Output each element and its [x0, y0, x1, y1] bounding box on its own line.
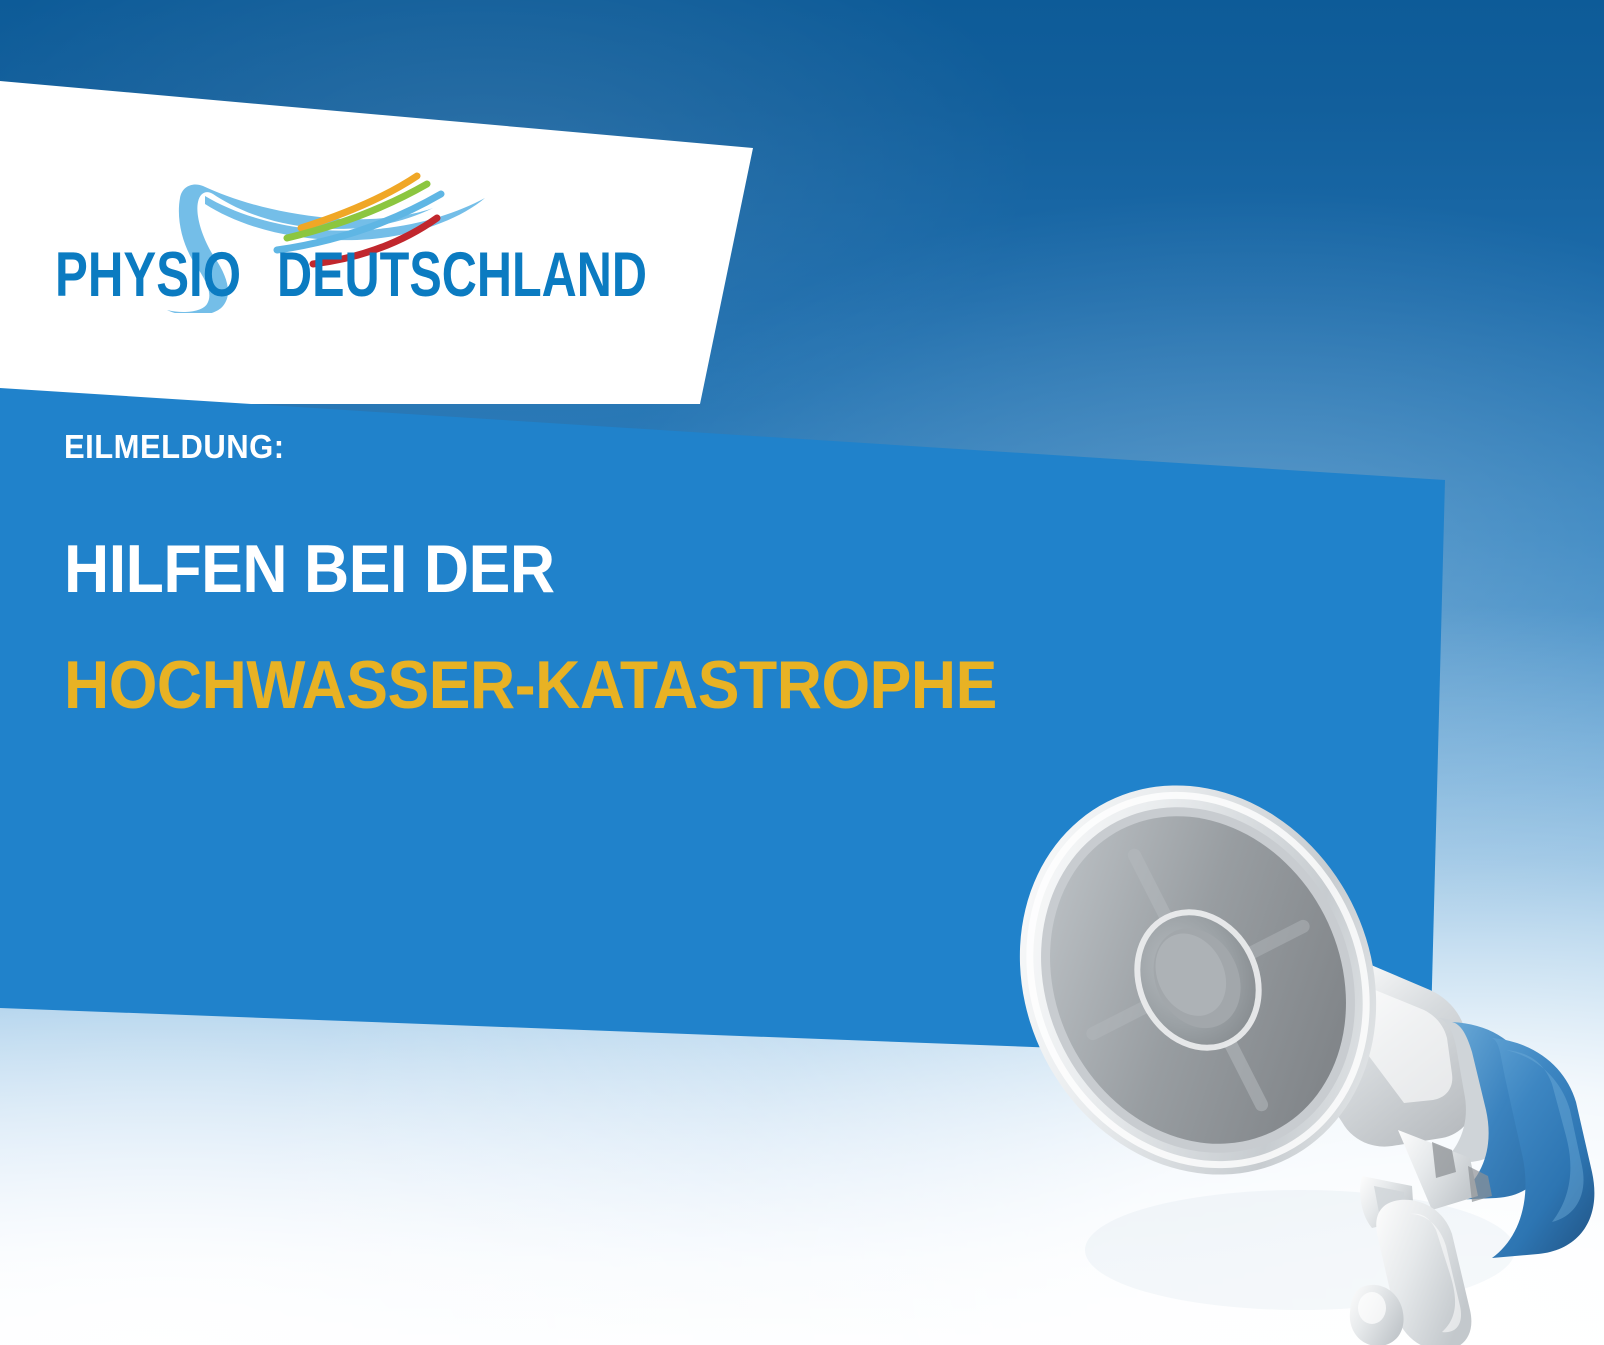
logo-word-deutschland: DEUTSCHLAND — [277, 240, 647, 310]
headline-line-2: HOCHWASSER-KATASTROPHE — [64, 651, 1168, 719]
announcement-banner: PHYSIO DEUTSCHLAND EILMELDUNG: HILFEN BE… — [0, 0, 1604, 1345]
logo-word-physio: PHYSIO — [55, 240, 241, 310]
kicker-label: EILMELDUNG: — [64, 430, 1192, 463]
banner-text-block: EILMELDUNG: HILFEN BEI DER HOCHWASSER-KA… — [64, 430, 1264, 719]
physio-deutschland-logo: PHYSIO DEUTSCHLAND — [55, 168, 675, 313]
headline-line-1: HILFEN BEI DER — [64, 535, 1168, 603]
